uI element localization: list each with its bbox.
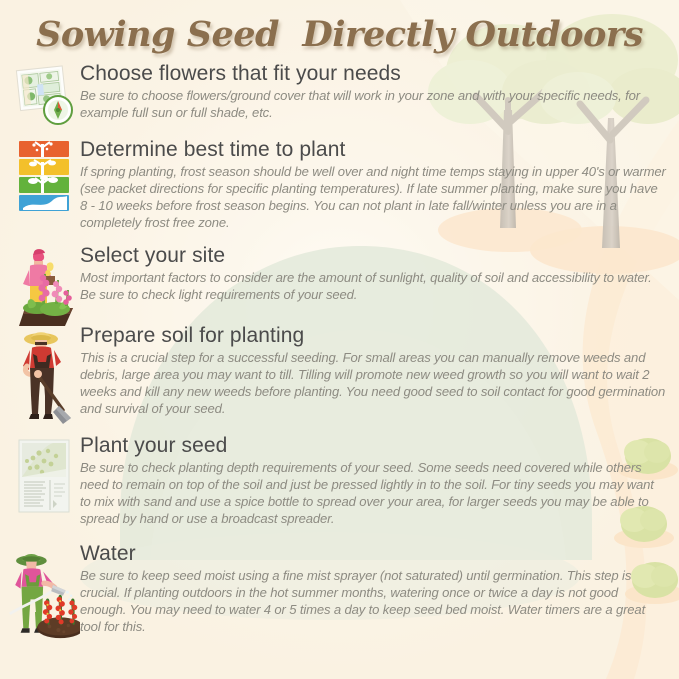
- garden-plan-compass-icon: [14, 64, 74, 126]
- step-text-cell: Plant your seed Be sure to check plantin…: [80, 434, 673, 527]
- step-title: Water: [80, 542, 667, 566]
- step-title: Select your site: [80, 244, 667, 268]
- step-text-cell: Select your site Most important factors …: [80, 244, 673, 303]
- poster-title-wrap: Sowing Seed Directly Outdoors: [0, 14, 679, 55]
- step-plant-seed: Plant your seed Be sure to check plantin…: [0, 434, 679, 542]
- step-determine-time: Determine best time to plant If spring p…: [0, 138, 679, 244]
- step-text-cell: Water Be sure to keep seed moist using a…: [80, 542, 673, 635]
- flower-bed-planter-icon: [11, 246, 77, 330]
- gardener-with-shovel-icon: [13, 326, 75, 426]
- step-title: Prepare soil for planting: [80, 324, 667, 348]
- compass-icon: [44, 96, 72, 124]
- step-body: Be sure to check planting depth requirem…: [80, 459, 667, 528]
- step-body: Be sure to keep seed moist using a fine …: [80, 567, 667, 636]
- steps-list: Choose flowers that fit your needs Be su…: [0, 62, 679, 652]
- step-icon-cell: [8, 542, 80, 644]
- step-body: Be sure to choose flowers/ground cover t…: [80, 87, 667, 121]
- step-water: Water Be sure to keep seed moist using a…: [0, 542, 679, 652]
- step-icon-cell: [8, 244, 80, 330]
- step-title: Determine best time to plant: [80, 138, 667, 162]
- seed-packet-icon: [13, 436, 75, 516]
- step-title: Plant your seed: [80, 434, 667, 458]
- step-prepare-soil: Prepare soil for planting This is a cruc…: [0, 324, 679, 434]
- gardener-watering-icon: [8, 544, 80, 644]
- step-icon-cell: [8, 62, 80, 126]
- step-body: If spring planting, frost season should …: [80, 163, 667, 232]
- step-icon-cell: [8, 434, 80, 516]
- step-title: Choose flowers that fit your needs: [80, 62, 667, 86]
- step-text-cell: Prepare soil for planting This is a cruc…: [80, 324, 673, 417]
- step-select-site: Select your site Most important factors …: [0, 244, 679, 324]
- page-title: Sowing Seed Directly Outdoors: [36, 14, 643, 55]
- step-text-cell: Choose flowers that fit your needs Be su…: [80, 62, 673, 121]
- step-choose-flowers: Choose flowers that fit your needs Be su…: [0, 62, 679, 138]
- step-icon-cell: [8, 324, 80, 426]
- step-body: Most important factors to consider are t…: [80, 269, 667, 303]
- step-text-cell: Determine best time to plant If spring p…: [80, 138, 673, 231]
- four-seasons-icon: [17, 140, 71, 212]
- step-body: This is a crucial step for a successful …: [80, 349, 667, 418]
- step-icon-cell: [8, 138, 80, 212]
- infographic-poster: Sowing Seed Directly Outdoors: [0, 0, 679, 679]
